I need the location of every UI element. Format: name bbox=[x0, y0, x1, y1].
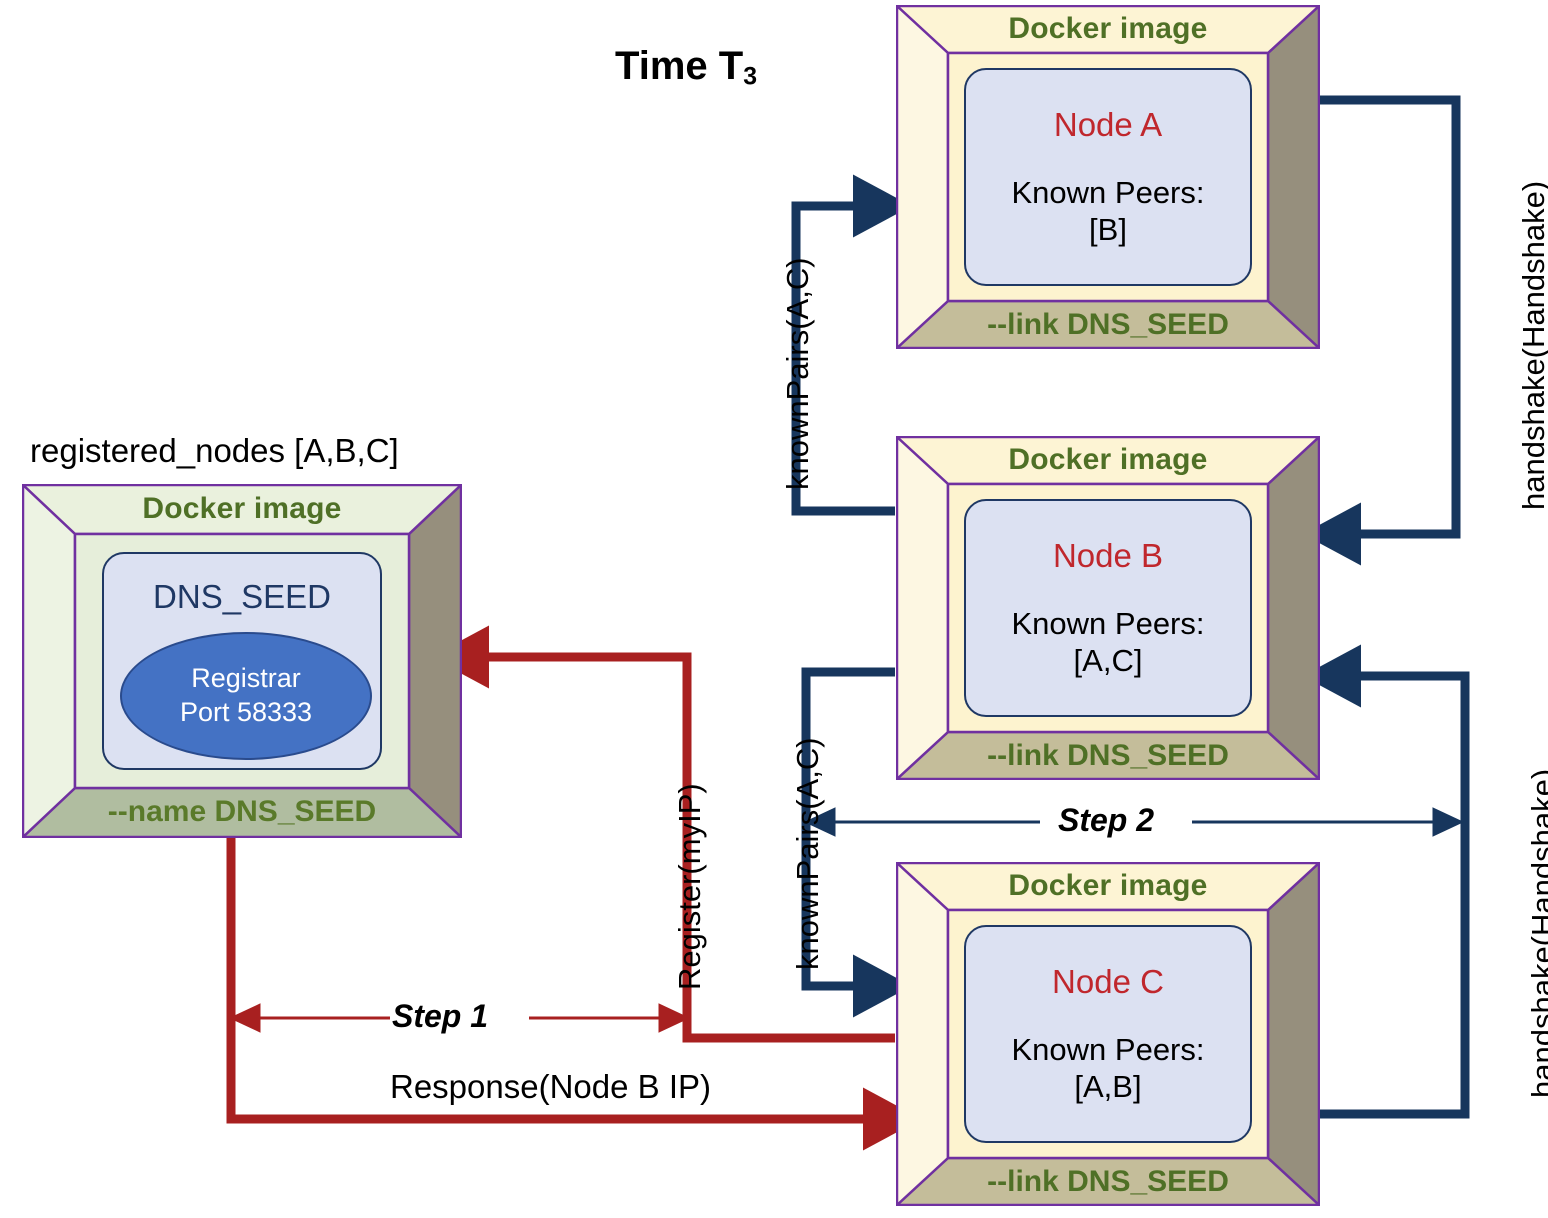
registrar-ellipse: Registrar Port 58333 bbox=[120, 632, 372, 760]
dns-seed-panel: DNS_SEED Registrar Port 58333 bbox=[102, 552, 382, 770]
known-peers-value: [A,C] bbox=[1074, 642, 1143, 679]
edge-label-register-myip: Register(myIP) bbox=[672, 783, 708, 990]
edge-label-knownpairs-top: knownPairs(A,C) bbox=[780, 257, 816, 490]
docker-box-dns-seed[interactable]: Docker image DNS_SEED Registrar Port 583… bbox=[22, 484, 462, 838]
docker-box-node-c[interactable]: Docker image Node C Known Peers: [A,B] -… bbox=[896, 862, 1320, 1206]
edge-label-knownpairs-bottom: knownPairs(A,C) bbox=[790, 737, 826, 970]
edge-handshake-a-to-b bbox=[1320, 100, 1456, 534]
edge-handshake-c-to-b bbox=[1317, 676, 1465, 1114]
edge-label-handshake-bottom: handshake(Handshake) bbox=[1525, 769, 1548, 1098]
docker-box-node-b[interactable]: Docker image Node B Known Peers: [A,C] -… bbox=[896, 436, 1320, 780]
title-subscript: 3 bbox=[743, 63, 757, 90]
known-peers-value: [B] bbox=[1089, 211, 1127, 248]
registered-nodes-caption: registered_nodes [A,B,C] bbox=[30, 432, 399, 470]
docker-image-label: Docker image bbox=[896, 869, 1320, 903]
docker-run-flag-label: --name DNS_SEED bbox=[22, 795, 462, 829]
known-peers-label: Known Peers: bbox=[1012, 1031, 1205, 1068]
known-peers-label: Known Peers: bbox=[1012, 174, 1205, 211]
registrar-port: Port 58333 bbox=[180, 696, 312, 730]
known-peers-value: [A,B] bbox=[1074, 1068, 1141, 1105]
node-name: Node C bbox=[1052, 963, 1164, 1001]
node-name: Node B bbox=[1053, 537, 1163, 575]
dns-seed-title: DNS_SEED bbox=[104, 578, 380, 616]
step-2-label: Step 2 bbox=[1058, 802, 1154, 839]
node-name: Node A bbox=[1054, 106, 1162, 144]
diagram-canvas: Time T3 registered_nodes [A,B,C] Docker … bbox=[0, 0, 1548, 1218]
edge-label-handshake-top: handshake(Handshake) bbox=[1516, 181, 1548, 510]
node-panel: Node C Known Peers: [A,B] bbox=[964, 925, 1252, 1143]
edge-label-response: Response(Node B IP) bbox=[390, 1068, 711, 1106]
title-prefix: Time T bbox=[615, 44, 743, 88]
node-panel: Node B Known Peers: [A,C] bbox=[964, 499, 1252, 717]
docker-image-label: Docker image bbox=[22, 492, 462, 526]
docker-run-flag-label: --link DNS_SEED bbox=[896, 739, 1320, 773]
node-panel: Node A Known Peers: [B] bbox=[964, 68, 1252, 286]
docker-run-flag-label: --link DNS_SEED bbox=[896, 308, 1320, 342]
page-title: Time T3 bbox=[615, 44, 757, 91]
docker-run-flag-label: --link DNS_SEED bbox=[896, 1165, 1320, 1199]
docker-image-label: Docker image bbox=[896, 443, 1320, 477]
docker-image-label: Docker image bbox=[896, 12, 1320, 46]
step-1-label: Step 1 bbox=[392, 998, 488, 1035]
registrar-name: Registrar bbox=[191, 662, 301, 696]
docker-box-node-a[interactable]: Docker image Node A Known Peers: [B] --l… bbox=[896, 5, 1320, 349]
known-peers-label: Known Peers: bbox=[1012, 605, 1205, 642]
